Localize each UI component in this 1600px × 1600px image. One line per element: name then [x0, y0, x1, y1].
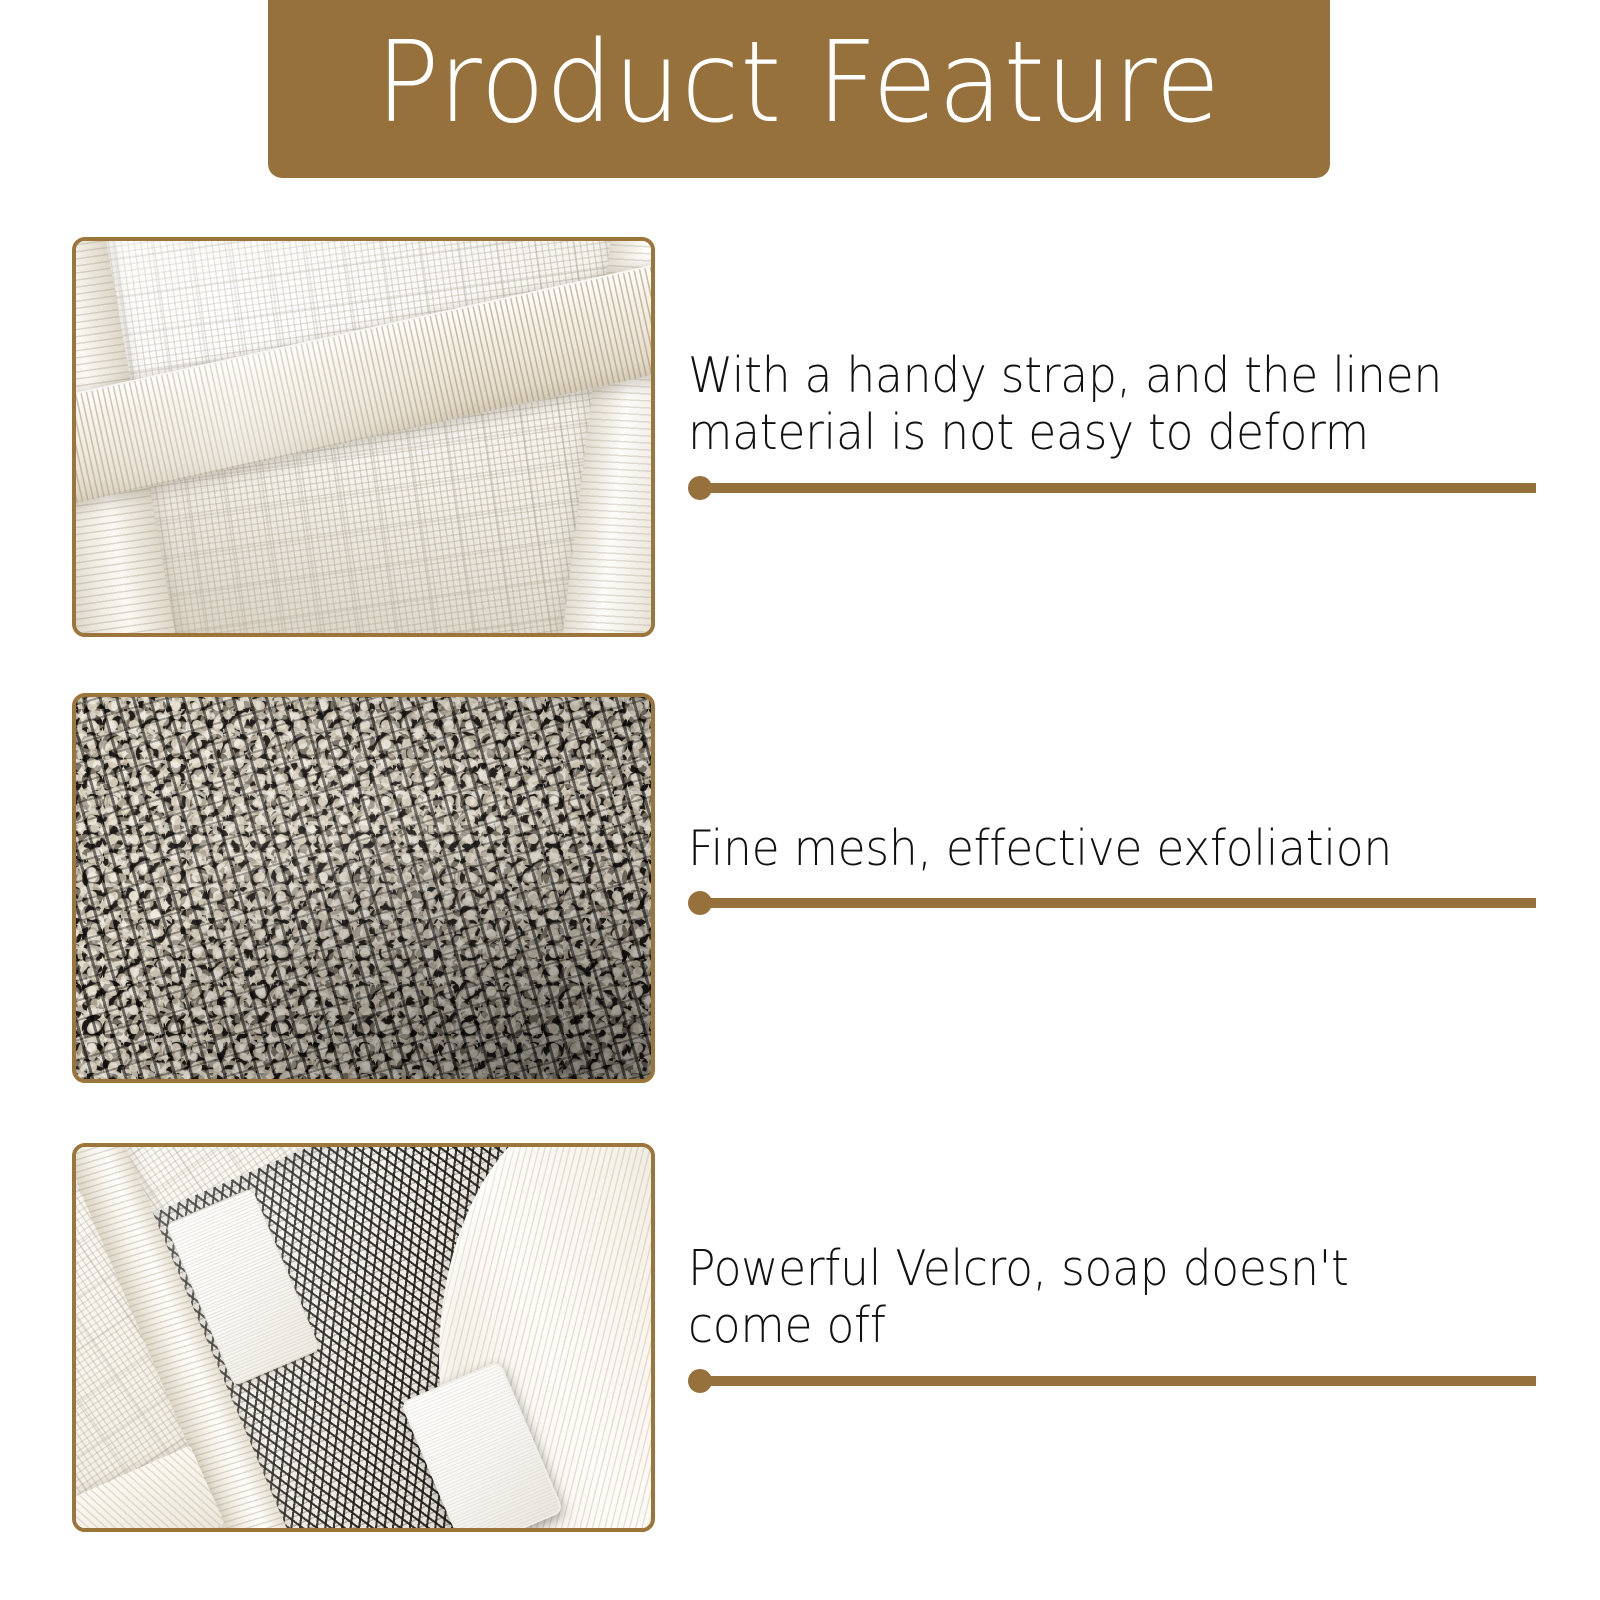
caption-rule-2	[688, 891, 1538, 915]
velcro-mesh-photo	[76, 1147, 651, 1528]
feature-caption-text-3: Powerful Velcro, soap doesn't come off	[688, 1240, 1479, 1355]
linen-strap-photo	[76, 241, 651, 633]
feature-caption-3: Powerful Velcro, soap doesn't come off	[688, 1240, 1538, 1393]
caption-underline	[698, 483, 1536, 493]
page-title: Product Feature	[376, 27, 1221, 139]
caption-rule-3	[688, 1369, 1538, 1393]
caption-underline	[698, 1376, 1536, 1386]
feature-photo-frame-3	[72, 1143, 655, 1532]
caption-rule-1	[688, 476, 1538, 500]
feature-photo-frame-1	[72, 237, 655, 637]
header-banner: Product Feature	[268, 0, 1330, 178]
feature-caption-text-1: With a handy strap, and the linen materi…	[688, 347, 1479, 462]
feature-caption-text-2: Fine mesh, effective exfoliation	[688, 820, 1479, 877]
elastic-strap	[76, 253, 651, 506]
feature-caption-2: Fine mesh, effective exfoliation	[688, 820, 1538, 915]
looped-terry-photo	[76, 697, 651, 1079]
feature-caption-1: With a handy strap, and the linen materi…	[688, 347, 1538, 500]
loop-texture-lighting	[76, 697, 651, 1079]
caption-underline	[698, 898, 1536, 908]
feature-photo-frame-2	[72, 693, 655, 1083]
